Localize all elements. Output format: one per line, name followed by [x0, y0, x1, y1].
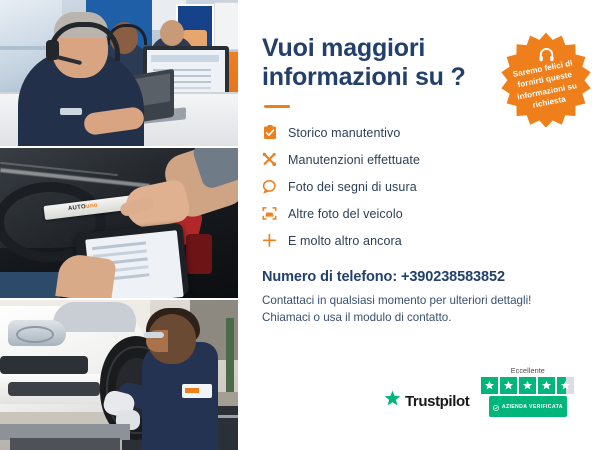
photo-column: AUTOuno — [0, 0, 238, 450]
star-filled — [538, 377, 555, 394]
phone-number: Numero di telefono: +390238583852 — [262, 269, 576, 285]
star-filled — [519, 377, 536, 394]
feature-label: Storico manutentivo — [288, 126, 400, 140]
list-item: Altre foto del veicolo — [262, 201, 576, 226]
car-inspection-photo: AUTOuno — [0, 148, 238, 297]
contact-text: Contattaci in qualsiasi momento per ulte… — [262, 292, 552, 327]
trustpilot-name: Trustpilot — [405, 393, 469, 410]
callback-rosette-badge: Saremo felici di fornirti queste informa… — [498, 31, 594, 127]
clipboard-check-icon — [262, 125, 277, 140]
feature-label: E molto altro ancora — [288, 234, 402, 248]
star-rating — [481, 377, 574, 394]
list-item: Manutenzioni effettuate — [262, 147, 576, 172]
feature-list: Storico manutentivo Manutenzioni effettu… — [262, 120, 576, 253]
verified-label: AZIENDA VERIFICATA — [502, 404, 563, 410]
verified-company-badge: AZIENDA VERIFICATA — [489, 396, 567, 417]
trustpilot-widget[interactable]: Trustpilot Eccellente — [384, 366, 574, 417]
trustpilot-star-icon — [384, 390, 401, 412]
title-underline-divider — [264, 105, 290, 108]
promo-banner: AUTOuno Vuoi maggiori informazioni s — [0, 0, 600, 450]
call-center-photo — [0, 0, 238, 146]
rating-label: Eccellente — [511, 366, 545, 375]
list-item: Foto dei segni di usura — [262, 174, 576, 199]
page-title: Vuoi maggiori informazioni su ? — [262, 34, 477, 92]
check-circle-icon — [493, 398, 499, 416]
speech-bubble-icon — [262, 179, 277, 194]
feature-label: Manutenzioni effettuate — [288, 153, 420, 167]
rosette-text: Saremo felici di fornirti queste informa… — [505, 56, 586, 115]
contact-line-1: Contattaci in qualsiasi momento per ulte… — [262, 294, 531, 307]
star-filled — [481, 377, 498, 394]
car-scan-icon — [262, 206, 277, 221]
plus-icon — [262, 233, 277, 248]
content-panel: Vuoi maggiori informazioni su ? Storico … — [238, 0, 600, 450]
feature-label: Foto dei segni di usura — [288, 180, 417, 194]
list-item: E molto altro ancora — [262, 228, 576, 253]
tools-cross-icon — [262, 152, 277, 167]
wheel-service-photo — [0, 300, 238, 450]
star-half — [557, 377, 574, 394]
feature-label: Altre foto del veicolo — [288, 207, 403, 221]
trustpilot-rating: Eccellente AZIENDA VERIFICATA — [481, 366, 574, 417]
contact-line-2: Chiamaci o usa il modulo di contatto. — [262, 311, 451, 324]
star-filled — [500, 377, 517, 394]
trustpilot-logo: Trustpilot — [384, 390, 469, 417]
